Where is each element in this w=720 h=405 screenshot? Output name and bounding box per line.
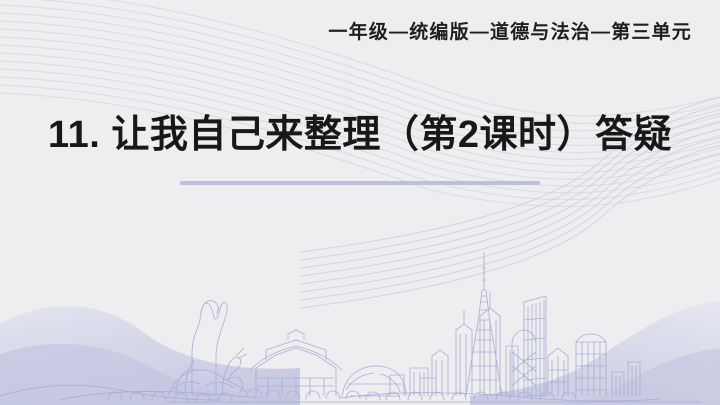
soft-lavender-blob-decoration (0, 0, 720, 405)
slide-canvas: 一年级—统编版—道德与法治—第三单元 11. 让我自己来整理（第2课时）答疑 (0, 0, 720, 405)
flowing-wave-lines-decoration (0, 0, 720, 405)
page-title: 11. 让我自己来整理（第2课时）答疑 (0, 112, 720, 160)
slide-header-text: 一年级—统编版—道德与法治—第三单元 (0, 17, 692, 44)
title-block: 11. 让我自己来整理（第2课时）答疑 (0, 112, 720, 160)
title-underline (180, 181, 540, 185)
guangzhou-skyline-illustration (0, 0, 720, 405)
